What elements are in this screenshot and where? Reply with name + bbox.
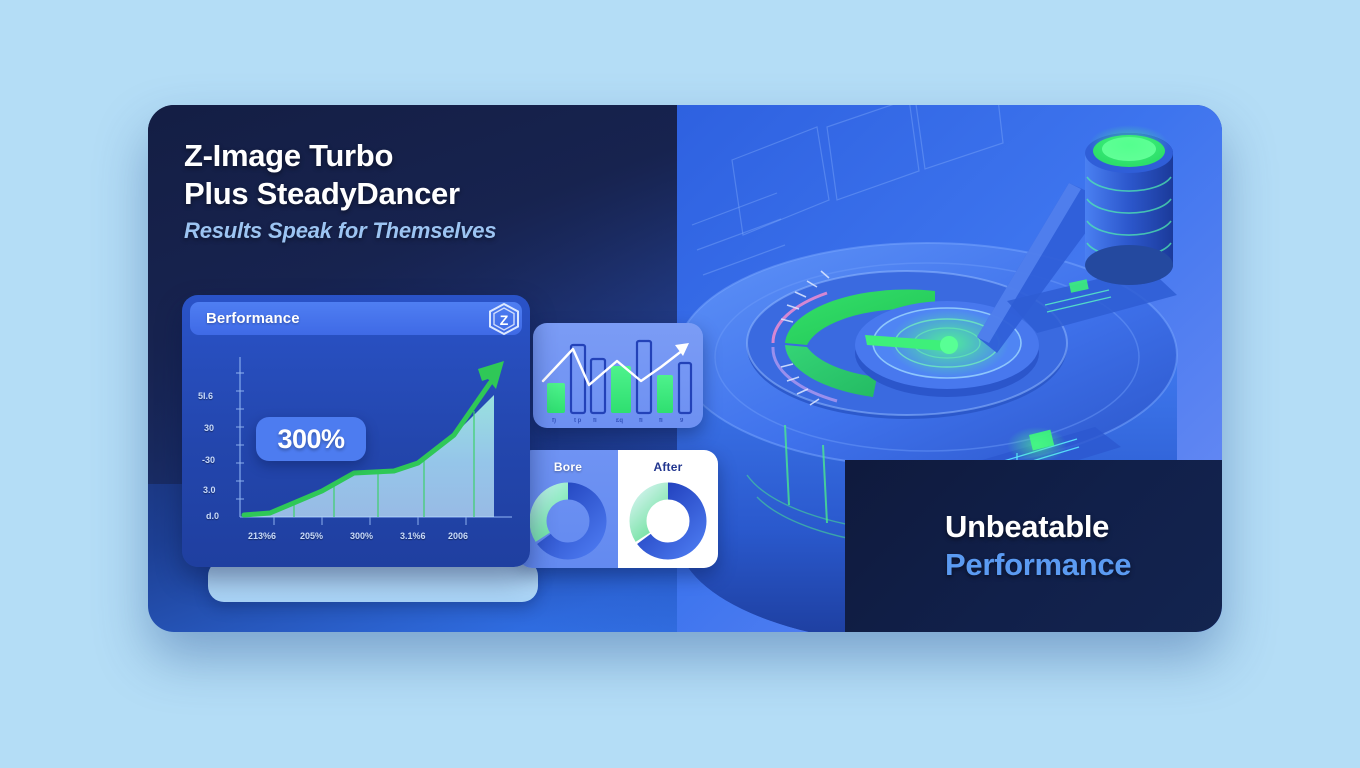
svg-text:fI: fI xyxy=(593,418,597,424)
stat-badge-value: 300% xyxy=(277,424,344,455)
performance-panel[interactable]: Berformance Z xyxy=(182,295,530,567)
bar-chart-panel[interactable]: f)t p fI£q fIfI 9 xyxy=(533,323,703,428)
subheadline: Results Speak for Themselves xyxy=(184,215,496,247)
headline-line-1: Z-Image Turbo xyxy=(184,137,496,175)
x-tick-2: 300% xyxy=(350,531,373,541)
x-tick-3: 3.1%6 xyxy=(400,531,426,541)
y-tick-4: d.0 xyxy=(206,511,219,521)
svg-text:£q: £q xyxy=(616,418,623,424)
tagline-line-1: Unbeatable xyxy=(945,508,1131,546)
z-logo-icon: Z xyxy=(482,300,526,338)
y-tick-1: 30 xyxy=(204,423,214,433)
y-tick-2: -30 xyxy=(202,455,215,465)
poster-stage: Unbeatable Performance Z-Image Turbo Plu… xyxy=(0,0,1360,768)
y-tick-0: 5I.6 xyxy=(198,391,213,401)
headline-line-2: Plus SteadyDancer xyxy=(184,175,496,213)
donut-before-label: Bore xyxy=(518,460,618,474)
tagline-text: Unbeatable Performance xyxy=(945,508,1131,584)
headline-block: Z-Image Turbo Plus SteadyDancer Results … xyxy=(184,137,496,247)
performance-panel-title: Berformance xyxy=(206,310,300,327)
donut-before-chart xyxy=(525,478,611,564)
svg-text:fI: fI xyxy=(659,418,663,424)
area-chart: 5I.6 30 -30 3.0 d.0 213%6 205% 300% 3.1%… xyxy=(182,339,530,567)
svg-text:fI: fI xyxy=(639,418,643,424)
donut-after-label: After xyxy=(618,460,718,474)
before-after-panel[interactable]: Bore xyxy=(518,450,718,568)
performance-panel-header: Berformance Z xyxy=(190,302,522,335)
svg-text:9: 9 xyxy=(680,418,684,424)
x-tick-0: 213%6 xyxy=(248,531,276,541)
svg-text:t p: t p xyxy=(574,418,582,424)
tagline-line-2: Performance xyxy=(945,546,1131,584)
x-tick-1: 205% xyxy=(300,531,323,541)
x-tick-4: 2006 xyxy=(448,531,468,541)
y-tick-3: 3.0 xyxy=(203,485,216,495)
svg-text:Z: Z xyxy=(500,312,509,328)
donut-after-chart xyxy=(625,478,711,564)
tagline-plate: Unbeatable Performance xyxy=(845,460,1222,632)
donut-after[interactable]: After xyxy=(618,450,718,568)
donut-before[interactable]: Bore xyxy=(518,450,618,568)
svg-text:f): f) xyxy=(552,418,556,424)
hero-card: Unbeatable Performance Z-Image Turbo Plu… xyxy=(148,105,1222,632)
stat-badge: 300% xyxy=(256,417,366,461)
